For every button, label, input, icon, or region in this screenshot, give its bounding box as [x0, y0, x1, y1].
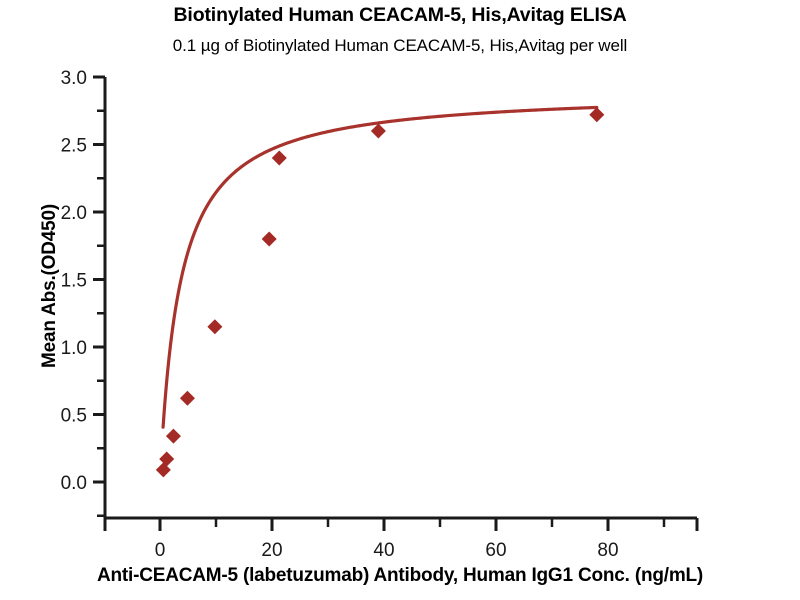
data-point-marker [371, 124, 386, 139]
data-point-marker [262, 232, 277, 247]
fit-curve [163, 107, 597, 427]
x-tick-label: 80 [597, 540, 618, 561]
data-point-marker [589, 107, 604, 122]
data-point-marker [166, 429, 181, 444]
y-tick-label: 0.5 [61, 406, 87, 427]
x-tick-label: 40 [373, 540, 394, 561]
elisa-chart-figure: Biotinylated Human CEACAM-5, His,Avitag … [0, 0, 800, 600]
data-point-marker [180, 391, 195, 406]
y-tick-label: 3.0 [61, 68, 87, 89]
x-tick-label: 60 [485, 540, 506, 561]
y-tick-label: 1.0 [61, 338, 87, 359]
data-point-marker [207, 319, 222, 334]
x-tick-label: 20 [261, 540, 282, 561]
y-tick-label: 2.5 [61, 136, 87, 157]
data-point-marker [272, 151, 287, 166]
y-tick-label: 0.0 [61, 473, 87, 494]
plot-area: 0.00.51.01.52.02.53.0020406080 [0, 0, 800, 600]
x-tick-label: 0 [155, 540, 166, 561]
y-tick-label: 2.0 [61, 203, 87, 224]
y-tick-label: 1.5 [61, 271, 87, 292]
